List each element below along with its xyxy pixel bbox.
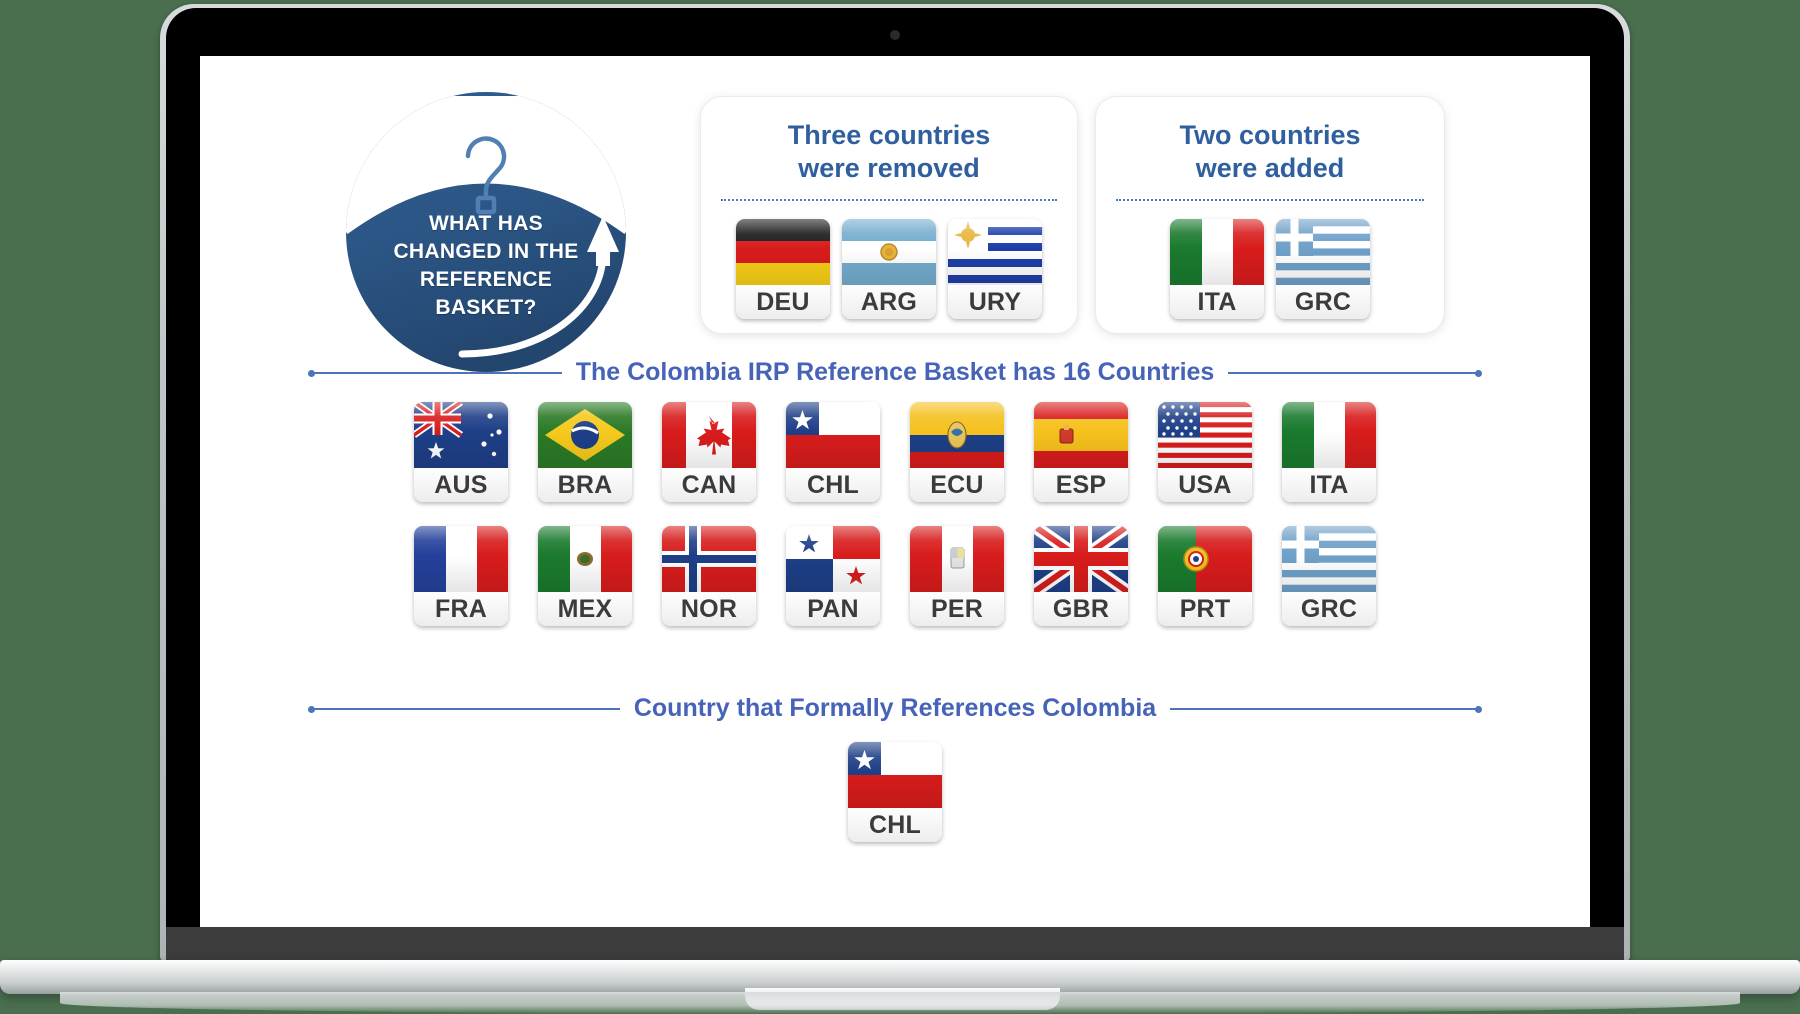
united-kingdom-flag-icon bbox=[1034, 526, 1128, 592]
mexico-flag-icon bbox=[538, 526, 632, 592]
heading-rule-right bbox=[1170, 708, 1480, 710]
flag-badge-label: DEU bbox=[736, 285, 830, 319]
greece-flag-icon bbox=[1276, 219, 1370, 285]
flag-row-2: FRA MEX bbox=[320, 526, 1470, 626]
card-removed-title-line-2: were removed bbox=[715, 152, 1063, 185]
flag-badge-label: CHL bbox=[786, 468, 880, 502]
flag-badge-esp[interactable]: ESP bbox=[1034, 402, 1128, 502]
section-heading-text: Country that Formally References Colombi… bbox=[634, 694, 1156, 723]
flag-badge-gbr[interactable]: GBR bbox=[1034, 526, 1128, 626]
flag-badge-label: GRC bbox=[1282, 592, 1376, 626]
flag-row-1: AUS BRA bbox=[320, 402, 1470, 502]
badge-text: WHAT HAS CHANGED IN THE REFERENCE BASKET… bbox=[340, 210, 632, 322]
card-added-title-line-1: Two countries bbox=[1110, 119, 1430, 152]
flag-badge-label: NOR bbox=[662, 592, 756, 626]
panama-flag-icon bbox=[786, 526, 880, 592]
flag-badge-label: PAN bbox=[786, 592, 880, 626]
webcam-icon bbox=[890, 30, 900, 40]
ecuador-flag-icon bbox=[910, 402, 1004, 468]
top-row: WHAT HAS CHANGED IN THE REFERENCE BASKET… bbox=[200, 56, 1590, 346]
flag-badge-label: ECU bbox=[910, 468, 1004, 502]
flag-badge-grc-basket[interactable]: GRC bbox=[1282, 526, 1376, 626]
greece-flag-icon bbox=[1282, 526, 1376, 592]
screenshot-stage: WHAT HAS CHANGED IN THE REFERENCE BASKET… bbox=[0, 0, 1800, 1014]
flag-badge-label: FRA bbox=[414, 592, 508, 626]
flag-badge-grc[interactable]: GRC bbox=[1276, 219, 1370, 319]
italy-flag-icon bbox=[1170, 219, 1264, 285]
flag-badge-ita-basket[interactable]: ITA bbox=[1282, 402, 1376, 502]
portugal-flag-icon bbox=[1158, 526, 1252, 592]
uruguay-flag-icon bbox=[948, 219, 1042, 285]
heading-rule-left bbox=[310, 372, 562, 374]
what-has-changed-badge: WHAT HAS CHANGED IN THE REFERENCE BASKET… bbox=[340, 86, 632, 378]
flag-badge-label: PER bbox=[910, 592, 1004, 626]
flag-badge-label: URY bbox=[948, 285, 1042, 319]
formal-reference-flag-area: CHL bbox=[200, 742, 1590, 842]
card-countries-added: Two countries were added ITA bbox=[1095, 96, 1445, 334]
australia-flag-icon bbox=[414, 402, 508, 468]
flag-badge-per[interactable]: PER bbox=[910, 526, 1004, 626]
flag-badge-prt[interactable]: PRT bbox=[1158, 526, 1252, 626]
flag-badge-label: GBR bbox=[1034, 592, 1128, 626]
chile-flag-icon bbox=[786, 402, 880, 468]
flag-badge-ita[interactable]: ITA bbox=[1170, 219, 1264, 319]
badge-line-1: WHAT HAS bbox=[340, 210, 632, 238]
flag-badge-ury[interactable]: URY bbox=[948, 219, 1042, 319]
card-removed-title: Three countries were removed bbox=[701, 97, 1077, 185]
usa-flag-icon bbox=[1158, 402, 1252, 468]
italy-flag-icon bbox=[1282, 402, 1376, 468]
card-countries-removed: Three countries were removed DEU bbox=[700, 96, 1078, 334]
flag-badge-label: CHL bbox=[848, 808, 942, 842]
badge-line-4: BASKET? bbox=[340, 294, 632, 322]
badge-line-3: REFERENCE bbox=[340, 266, 632, 294]
flag-badge-label: AUS bbox=[414, 468, 508, 502]
badge-line-2: CHANGED IN THE bbox=[340, 238, 632, 266]
flag-badge-ecu[interactable]: ECU bbox=[910, 402, 1004, 502]
canada-flag-icon bbox=[662, 402, 756, 468]
section-heading-basket: The Colombia IRP Reference Basket has 16… bbox=[310, 358, 1480, 387]
flag-badge-fra[interactable]: FRA bbox=[414, 526, 508, 626]
flag-badge-chl-formal[interactable]: CHL bbox=[848, 742, 942, 842]
flag-badge-can[interactable]: CAN bbox=[662, 402, 756, 502]
card-added-title-line-2: were added bbox=[1110, 152, 1430, 185]
section-heading-text: The Colombia IRP Reference Basket has 16… bbox=[576, 358, 1215, 387]
flag-badge-nor[interactable]: NOR bbox=[662, 526, 756, 626]
flag-badge-label: GRC bbox=[1276, 285, 1370, 319]
germany-flag-icon bbox=[736, 219, 830, 285]
flag-badge-label: MEX bbox=[538, 592, 632, 626]
laptop-screen: WHAT HAS CHANGED IN THE REFERENCE BASKET… bbox=[200, 56, 1590, 927]
heading-rule-right bbox=[1228, 372, 1480, 374]
norway-flag-icon bbox=[662, 526, 756, 592]
flag-badge-usa[interactable]: USA bbox=[1158, 402, 1252, 502]
flag-badge-bra[interactable]: BRA bbox=[538, 402, 632, 502]
flag-badge-pan[interactable]: PAN bbox=[786, 526, 880, 626]
brazil-flag-icon bbox=[538, 402, 632, 468]
card-added-flags: ITA bbox=[1096, 201, 1444, 319]
flag-badge-label: ITA bbox=[1170, 285, 1264, 319]
spain-flag-icon bbox=[1034, 402, 1128, 468]
flag-badge-label: BRA bbox=[538, 468, 632, 502]
basket-flag-grid: AUS BRA bbox=[320, 402, 1470, 650]
argentina-flag-icon bbox=[842, 219, 936, 285]
flag-badge-label: PRT bbox=[1158, 592, 1252, 626]
peru-flag-icon bbox=[910, 526, 1004, 592]
card-removed-flags: DEU ARG bbox=[701, 201, 1077, 319]
heading-rule-left bbox=[310, 708, 620, 710]
flag-badge-deu[interactable]: DEU bbox=[736, 219, 830, 319]
laptop-bezel-chin bbox=[166, 927, 1624, 962]
card-removed-title-line-1: Three countries bbox=[715, 119, 1063, 152]
card-added-title: Two countries were added bbox=[1096, 97, 1444, 185]
france-flag-icon bbox=[414, 526, 508, 592]
flag-badge-label: ARG bbox=[842, 285, 936, 319]
flag-badge-aus[interactable]: AUS bbox=[414, 402, 508, 502]
flag-badge-label: CAN bbox=[662, 468, 756, 502]
flag-badge-chl[interactable]: CHL bbox=[786, 402, 880, 502]
flag-badge-label: USA bbox=[1158, 468, 1252, 502]
chile-flag-icon bbox=[848, 742, 942, 808]
flag-badge-label: ITA bbox=[1282, 468, 1376, 502]
flag-badge-arg[interactable]: ARG bbox=[842, 219, 936, 319]
flag-badge-mex[interactable]: MEX bbox=[538, 526, 632, 626]
laptop-base-shadow bbox=[60, 992, 1740, 1014]
section-heading-formal: Country that Formally References Colombi… bbox=[310, 694, 1480, 723]
flag-badge-label: ESP bbox=[1034, 468, 1128, 502]
